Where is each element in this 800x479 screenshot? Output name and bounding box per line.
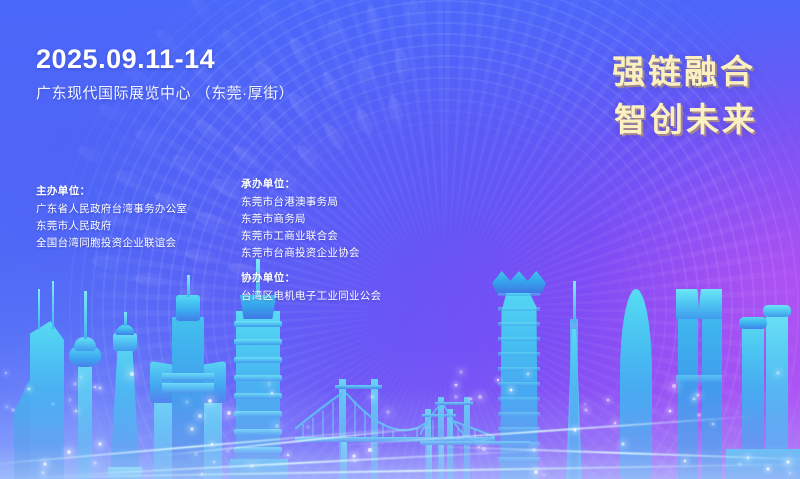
ground-mist [0, 389, 800, 479]
organizer-item: 广东省人民政府台湾事务办公室 [36, 201, 187, 218]
slogan-line-1: 强链融合 [612, 48, 756, 96]
organizer-heading: 主办单位： [36, 183, 187, 198]
building [498, 352, 540, 356]
building-spire [38, 289, 40, 329]
organizer-block-coorganizer: 承办单位： 东莞市台港澳事务局 东莞市商务局 东莞市工商业联合会 东莞市台商投资… [241, 176, 360, 262]
building [234, 375, 282, 381]
building-spire [573, 281, 576, 323]
organizer-item: 东莞市商务局 [241, 211, 360, 228]
building-spire [52, 281, 54, 329]
building [498, 337, 540, 341]
building-spire [124, 312, 127, 326]
building [763, 305, 791, 317]
organizer-heading: 承办单位： [241, 176, 360, 191]
organizer-item: 东莞市台港澳事务局 [241, 194, 360, 211]
building [234, 339, 282, 345]
building [234, 357, 282, 363]
building [498, 367, 540, 371]
organizer-item: 东莞市工商业联合会 [241, 228, 360, 245]
building [162, 373, 214, 381]
building-spire [187, 275, 190, 297]
building [176, 295, 200, 321]
organizer-item: 全国台湾同胞投资企业联谊会 [36, 235, 187, 252]
event-venue: 广东现代国际展览中心 （东莞·厚街） [36, 82, 294, 103]
slogan-line-2: 智创未来 [612, 96, 758, 144]
building [498, 322, 540, 326]
event-poster: 2025.09.11-14 广东现代国际展览中心 （东莞·厚街） 强链融合 智创… [0, 0, 800, 479]
organizer-block-supporter: 协办单位： 台湾区电机电子工业同业公会 [241, 270, 381, 305]
organizer-heading: 协办单位： [241, 270, 381, 285]
organizer-item: 东莞市人民政府 [36, 218, 187, 235]
building [498, 307, 540, 311]
building [676, 289, 722, 319]
organizer-item: 东莞市台商投资企业协会 [241, 245, 360, 262]
building-spire [84, 291, 87, 339]
building [676, 375, 722, 383]
organizer-block-host: 主办单位： 广东省人民政府台湾事务办公室 东莞市人民政府 全国台湾同胞投资企业联… [36, 183, 187, 252]
organizer-item: 台湾区电机电子工业同业公会 [241, 288, 381, 305]
building [739, 317, 767, 329]
building [492, 271, 546, 293]
event-slogan: 强链融合 智创未来 [612, 48, 756, 144]
event-date: 2025.09.11-14 [36, 44, 215, 75]
building [74, 337, 96, 351]
building [113, 333, 137, 351]
building [234, 321, 282, 327]
building [116, 325, 134, 335]
building [498, 382, 540, 386]
